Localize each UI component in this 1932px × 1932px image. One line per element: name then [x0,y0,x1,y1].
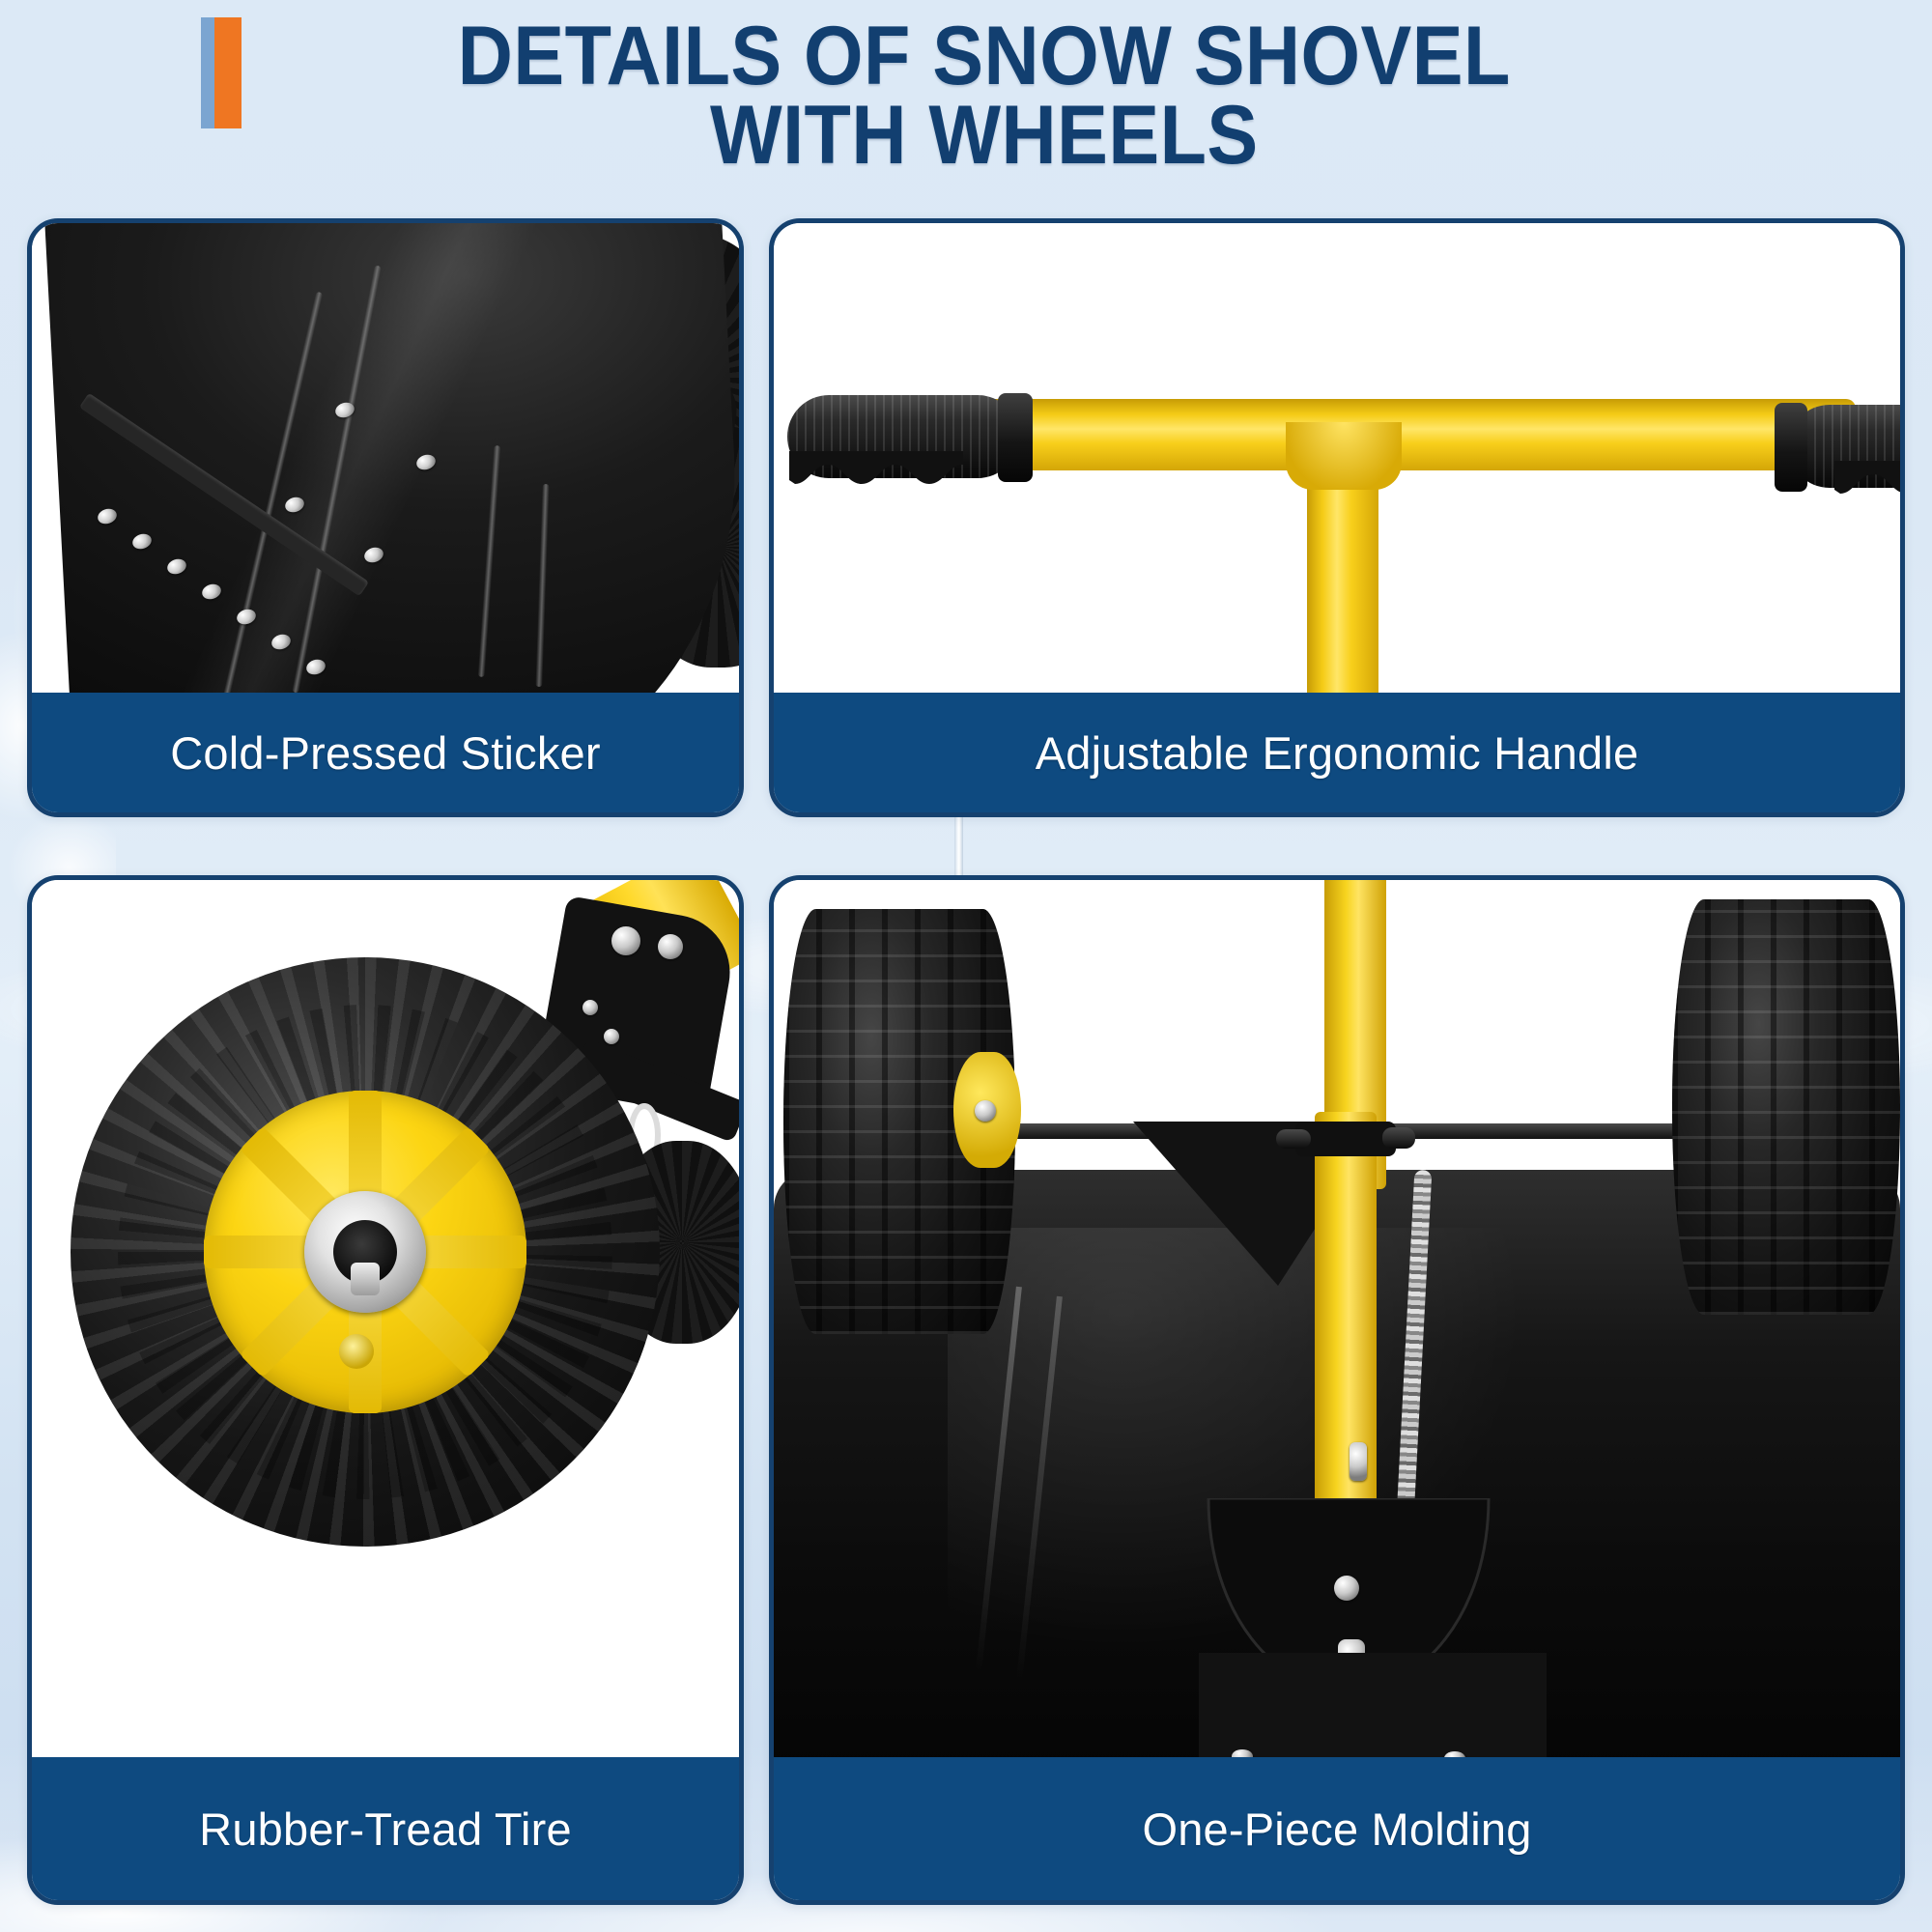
lower-bolt-1 [1232,1749,1253,1757]
blade-highlight [43,223,739,693]
feature-panel-adjustable-ergonomic-handle[interactable]: Adjustable Ergonomic Handle [769,218,1905,817]
right-grip-collar [1775,403,1807,492]
infographic-page: DETAILS OF SNOW SHOVEL WITH WHEELS [0,0,1932,1932]
mount-hole-2 [604,1029,619,1044]
lower-mount-plate [1199,1653,1547,1757]
feature-image-shovel-blade [32,223,739,693]
mount-hole-1 [582,1000,598,1015]
right-wheel [1672,899,1900,1315]
left-grip-finger-scallops-icon [789,451,963,492]
page-title: DETAILS OF SNOW SHOVEL WITH WHEELS [0,17,1932,175]
feature-image-t-handle [774,223,1900,693]
post-pin [1350,1442,1367,1481]
hinge-bolt-1 [1334,1576,1359,1601]
mount-bolt-2 [658,934,683,959]
left-wheel-hub [975,1100,996,1122]
feature-caption-adjustable-ergonomic-handle: Adjustable Ergonomic Handle [774,693,1900,812]
left-grip-collar [998,393,1033,482]
post-clamp-knob-right [1382,1127,1415,1149]
page-title-text: DETAILS OF SNOW SHOVEL WITH WHEELS [422,17,1511,175]
right-wheel-tread [1672,899,1900,1315]
right-grip-finger-scallops-icon [1834,461,1900,501]
feature-caption-rubber-tread-tire: Rubber-Tread Tire [32,1757,739,1900]
feature-caption-cold-pressed-sticker: Cold-Pressed Sticker [32,693,739,812]
post-clamp-knob-left [1276,1129,1311,1149]
feature-image-one-piece-molding [774,880,1900,1757]
page-title-line-2: WITH WHEELS [457,97,1510,176]
feature-panel-one-piece-molding[interactable]: One-Piece Molding [769,875,1905,1905]
feature-panel-cold-pressed-sticker[interactable]: Cold-Pressed Sticker [27,218,744,817]
hub-cotter-pin [351,1263,380,1295]
feature-caption-one-piece-molding: One-Piece Molding [774,1757,1900,1900]
shovel-blade [43,223,739,693]
feature-panel-rubber-tread-tire[interactable]: Rubber-Tread Tire [27,875,744,1905]
feature-image-tire [32,880,739,1757]
handle-crossbar [967,399,1856,470]
handle-weld-joint [1286,422,1402,490]
page-title-line-1: DETAILS OF SNOW SHOVEL [457,17,1510,97]
mount-bolt-1 [611,926,640,955]
rim-valve-marker [339,1334,374,1369]
